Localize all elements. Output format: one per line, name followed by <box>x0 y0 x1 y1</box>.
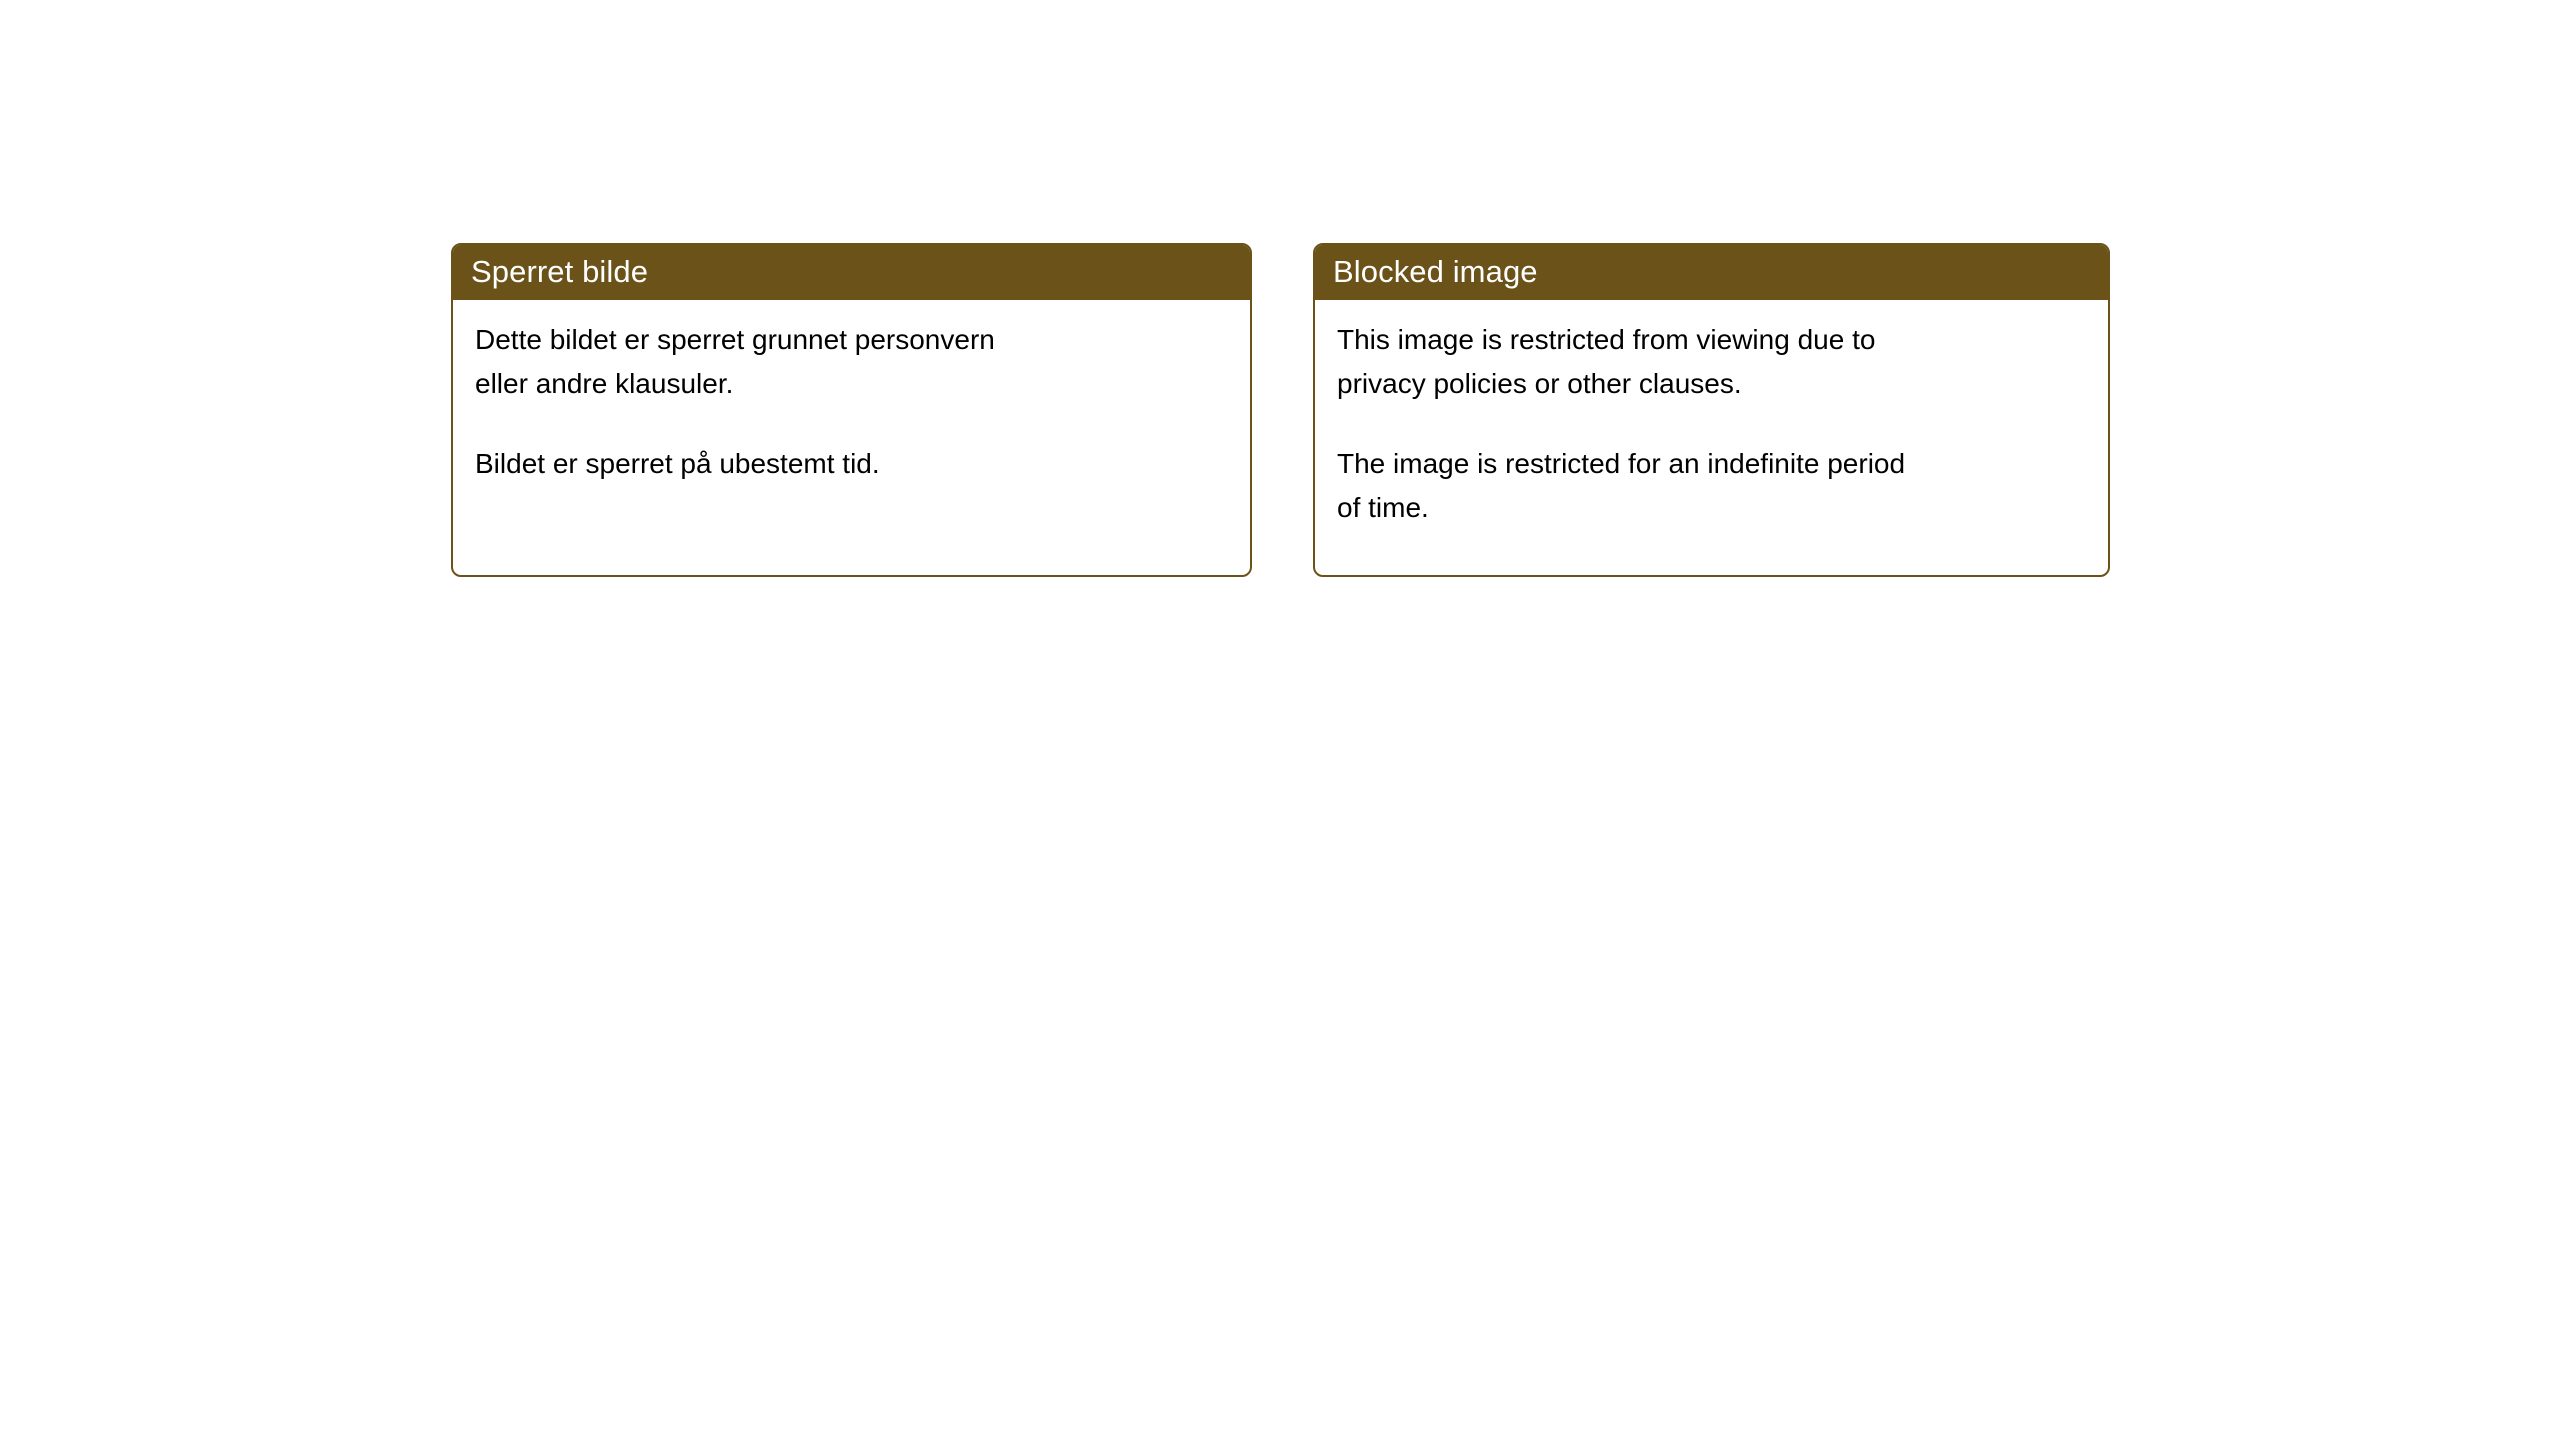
paragraph-spacer <box>475 406 1228 442</box>
panel-title-english: Blocked image <box>1333 256 1538 287</box>
panel-body-norwegian: Dette bildet er sperret grunnet personve… <box>453 300 1250 486</box>
blocked-image-notice-norwegian: Sperret bilde Dette bildet er sperret gr… <box>451 243 1252 577</box>
notice-paragraph-secondary-norwegian: Bildet er sperret på ubestemt tid. <box>475 442 1228 486</box>
page-canvas: Sperret bilde Dette bildet er sperret gr… <box>0 0 2560 1440</box>
panel-header-english: Blocked image <box>1313 243 2110 300</box>
panel-header-norwegian: Sperret bilde <box>451 243 1252 300</box>
paragraph-spacer <box>1337 406 2086 442</box>
panel-title-norwegian: Sperret bilde <box>471 256 648 287</box>
blocked-image-notice-english: Blocked image This image is restricted f… <box>1313 243 2110 577</box>
notice-paragraph-primary-english: This image is restricted from viewing du… <box>1337 318 2086 406</box>
notice-paragraph-secondary-english: The image is restricted for an indefinit… <box>1337 442 2086 530</box>
notice-paragraph-primary-norwegian: Dette bildet er sperret grunnet personve… <box>475 318 1228 406</box>
panel-body-english: This image is restricted from viewing du… <box>1315 300 2108 530</box>
